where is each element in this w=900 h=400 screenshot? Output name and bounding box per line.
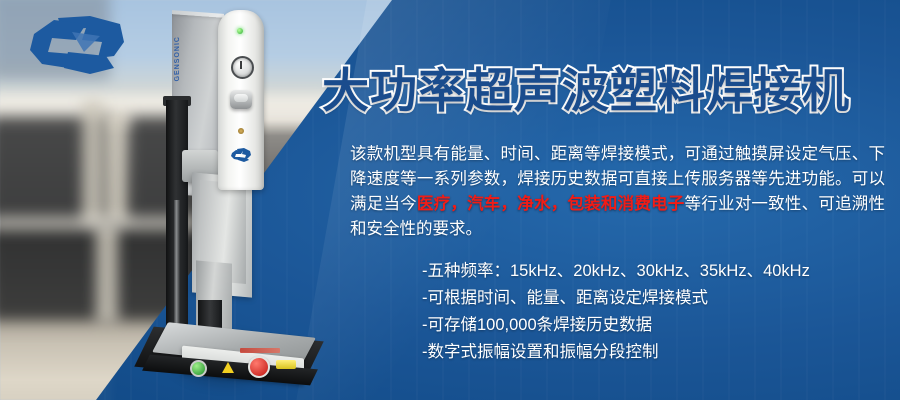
machine-logo-icon	[231, 148, 251, 162]
machine-guide-rod	[174, 200, 180, 335]
list-item: -五种频率：15kHz、20kHz、30kHz、35kHz、40kHz	[422, 258, 882, 285]
product-banner: GENSONIC	[0, 0, 900, 400]
emergency-stop-button	[248, 356, 270, 378]
warning-triangle-icon	[222, 362, 234, 373]
list-item: -可存储100,000条焊接历史数据	[422, 312, 882, 339]
pressure-gauge	[231, 56, 254, 79]
brand-logo	[28, 12, 126, 78]
indicator-yellow	[276, 360, 296, 369]
page-title: 大功率超声波塑料焊接机	[322, 52, 850, 121]
list-item: -可根据时间、能量、距离设定焊接模式	[422, 285, 882, 312]
building-column	[82, 100, 104, 228]
list-item: -数字式振幅设置和振幅分段控制	[422, 339, 882, 366]
base-warning-label	[240, 348, 280, 353]
power-led-indicator	[237, 28, 243, 34]
pressure-regulator-knob	[230, 90, 252, 109]
description-paragraph: 该款机型具有能量、时间、距离等焊接模式，可通过触摸屏设定气压、下降速度等一系列参…	[350, 142, 885, 242]
ultrasonic-welder-machine: GENSONIC	[130, 0, 320, 400]
machine-brand-text: GENSONIC	[174, 48, 220, 81]
panel-screw	[238, 128, 244, 134]
building-column	[96, 224, 118, 324]
building-column	[104, 112, 130, 224]
feature-list: -五种频率：15kHz、20kHz、30kHz、35kHz、40kHz -可根据…	[422, 258, 882, 366]
start-button-green	[190, 360, 207, 377]
description-highlight-industries: 医疗，汽车，净水，包装和消费电子	[417, 195, 685, 213]
